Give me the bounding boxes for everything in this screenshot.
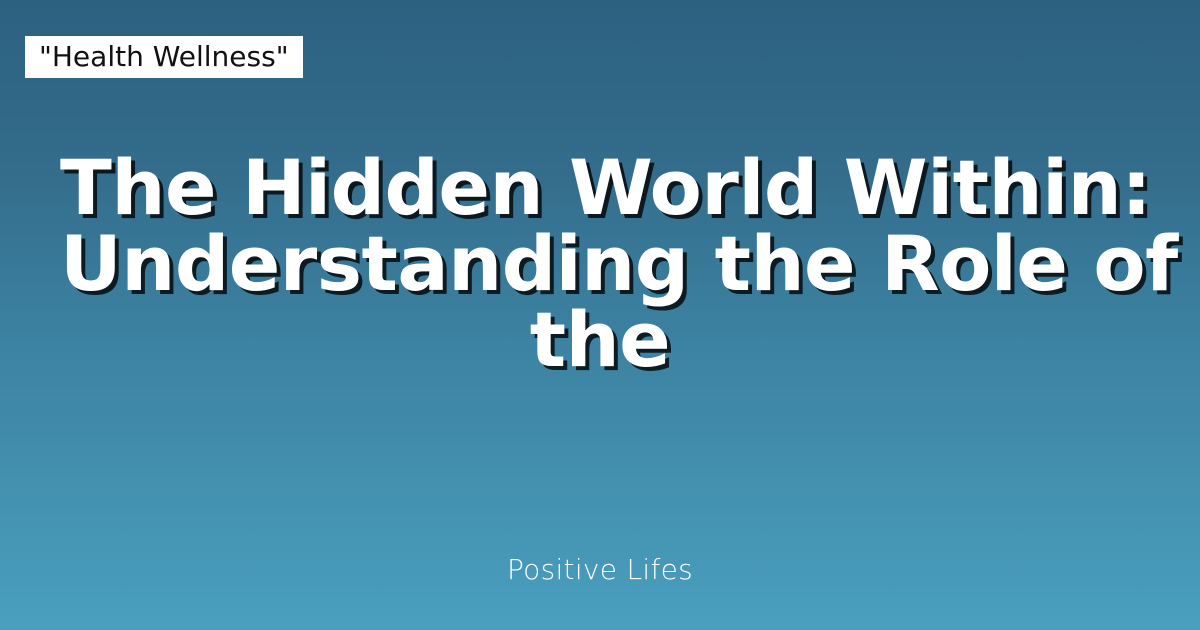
headline-block: The Hidden World Within: Understanding t…	[0, 150, 1200, 378]
category-badge-label: "Health Wellness"	[39, 43, 289, 71]
category-badge: "Health Wellness"	[25, 36, 303, 78]
headline-line-3: the	[60, 302, 1140, 378]
site-brand: Positive Lifes	[0, 552, 1200, 588]
social-card-canvas: "Health Wellness" The Hidden World Withi…	[0, 0, 1200, 630]
headline-line-2: Understanding the Role of	[60, 226, 1140, 302]
site-brand-label: Positive Lifes	[507, 553, 693, 586]
headline-line-1: The Hidden World Within:	[60, 150, 1140, 226]
